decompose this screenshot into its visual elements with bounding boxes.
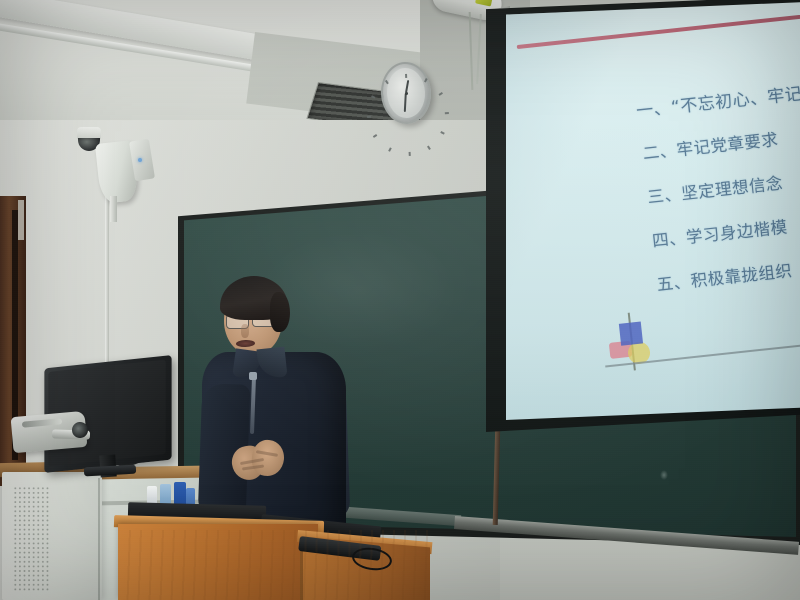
chalk-mark bbox=[660, 470, 668, 480]
slide-title-rule bbox=[517, 10, 800, 49]
logo-blue-block bbox=[619, 321, 643, 345]
wooden-lectern[interactable] bbox=[118, 524, 318, 600]
slide-item-5: 五、积极靠拢组织 bbox=[655, 257, 793, 295]
nose bbox=[241, 324, 249, 338]
slide-item-1: 一、“不忘初心、牢记 bbox=[635, 79, 800, 122]
zipper-pull bbox=[249, 372, 257, 380]
cabinet-vent-holes bbox=[13, 486, 49, 592]
slide: 白 一、“不忘初心、牢记 二、牢记党章要求 三、坚定理想信念 四、学习身边楷模 … bbox=[506, 2, 800, 418]
clock-center-pin bbox=[404, 91, 407, 94]
slide-item-3: 三、坚定理想信念 bbox=[646, 170, 784, 208]
clock-tick bbox=[405, 74, 407, 78]
projection-screen: 白 一、“不忘初心、牢记 二、牢记党章要求 三、坚定理想信念 四、学习身边楷模 … bbox=[506, 2, 800, 420]
clock-tick bbox=[385, 80, 388, 84]
speaker-mount-post bbox=[110, 196, 117, 222]
clock-minute-hand bbox=[404, 93, 407, 112]
clock-tick bbox=[409, 152, 411, 156]
cabinet-panel-seam bbox=[98, 478, 100, 600]
classroom-photo: 白 一、“不忘初心、牢记 二、牢记党章要求 三、坚定理想信念 四、学习身边楷模 … bbox=[0, 0, 800, 600]
clock-face bbox=[386, 67, 427, 119]
clock-tick bbox=[445, 112, 449, 114]
door-light-strip bbox=[18, 200, 24, 240]
hair-side bbox=[270, 292, 290, 332]
slide-item-4: 四、学习身边楷模 bbox=[651, 213, 789, 251]
speaker-led-icon bbox=[138, 158, 142, 162]
slide-item-2: 二、牢记党章要求 bbox=[641, 126, 779, 164]
clock-tick bbox=[367, 116, 371, 118]
clock-tick bbox=[424, 78, 427, 82]
